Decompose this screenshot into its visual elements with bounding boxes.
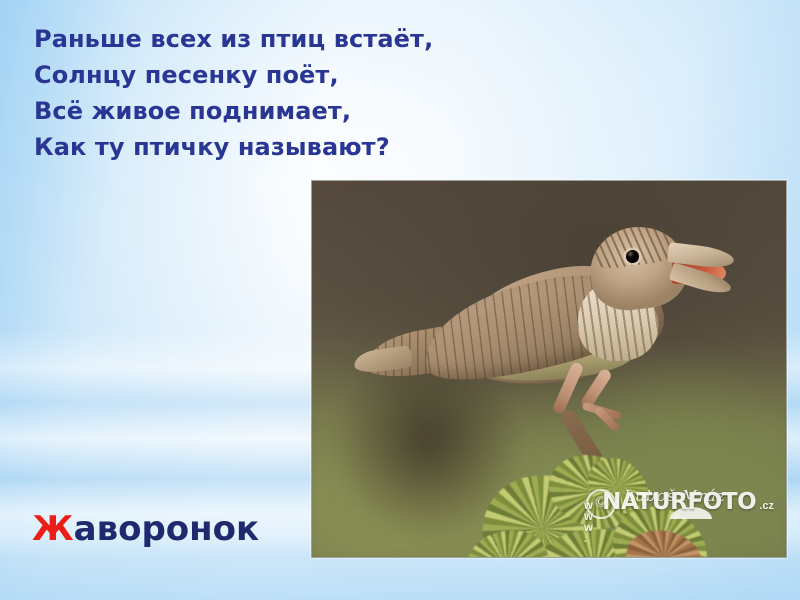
answer-word: Жаворонок [32, 508, 259, 550]
bird-figure [334, 209, 754, 459]
watermark-tld: .cz [756, 500, 774, 512]
photo-stage: © Luboš Mráz W W W . NATURFOTO .cz [312, 181, 786, 557]
slide-canvas: Раньше всех из птиц встаёт, Солнцу песен… [0, 0, 800, 600]
answer-remainder: аворонок [74, 509, 259, 549]
watermark-www: W W W . [584, 501, 602, 545]
riddle-line-2: Солнцу песенку поёт, [34, 57, 464, 93]
bird-eye [626, 250, 639, 263]
answer-first-letter: Ж [32, 509, 74, 549]
riddle-line-1: Раньше всех из птиц встаёт, [34, 21, 464, 57]
riddle-line-4: Как ту птичку называют? [34, 129, 464, 165]
watermark-url-row: W W W . NATURFOTO .cz [584, 489, 774, 545]
riddle-text-block: Раньше всех из птиц встаёт, Солнцу песен… [34, 21, 464, 165]
riddle-line-3: Всё живое поднимает, [34, 93, 464, 129]
watermark-brand: NATURFOTO [602, 489, 756, 515]
bird-photo: © Luboš Mráz W W W . NATURFOTO .cz [311, 180, 787, 558]
photo-watermark: © Luboš Mráz W W W . NATURFOTO .cz [584, 483, 774, 547]
